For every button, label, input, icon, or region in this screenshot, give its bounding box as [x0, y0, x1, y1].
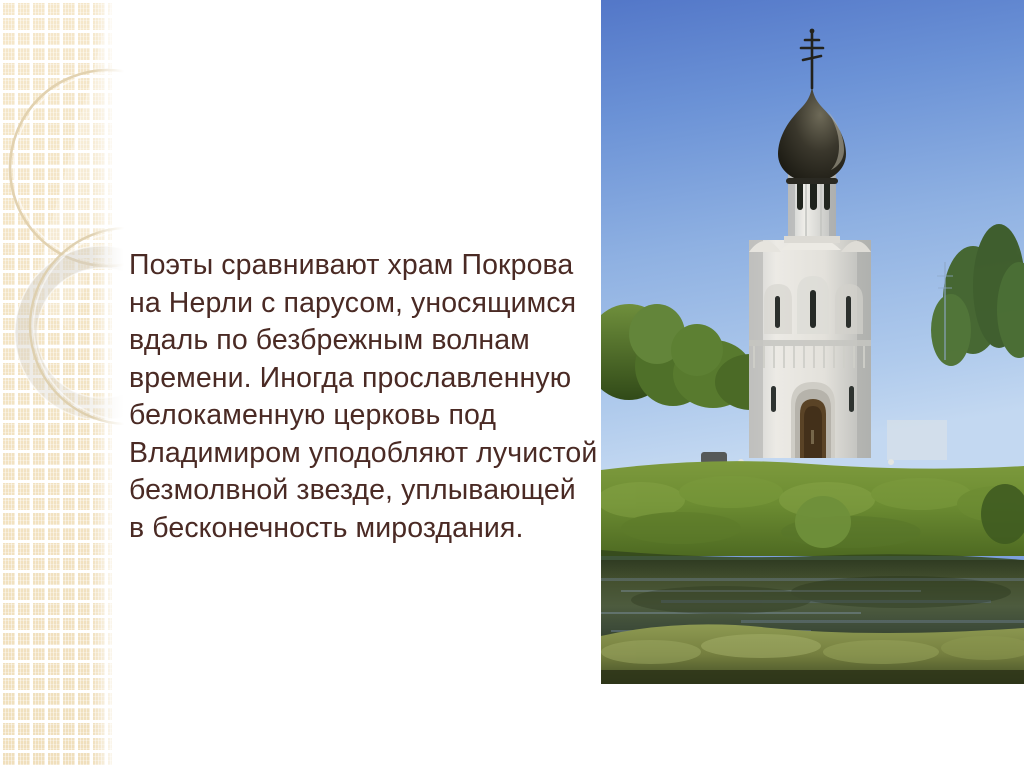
slide-photo	[601, 0, 1024, 684]
church-photo-illustration	[601, 0, 1024, 684]
slide-body-text: Поэты сравнивают храм Покрова на Нерли с…	[129, 247, 599, 547]
presentation-slide: Поэты сравнивают храм Покрова на Нерли с…	[0, 0, 1024, 768]
border-fade	[92, 0, 124, 768]
decorative-left-border	[0, 0, 124, 768]
